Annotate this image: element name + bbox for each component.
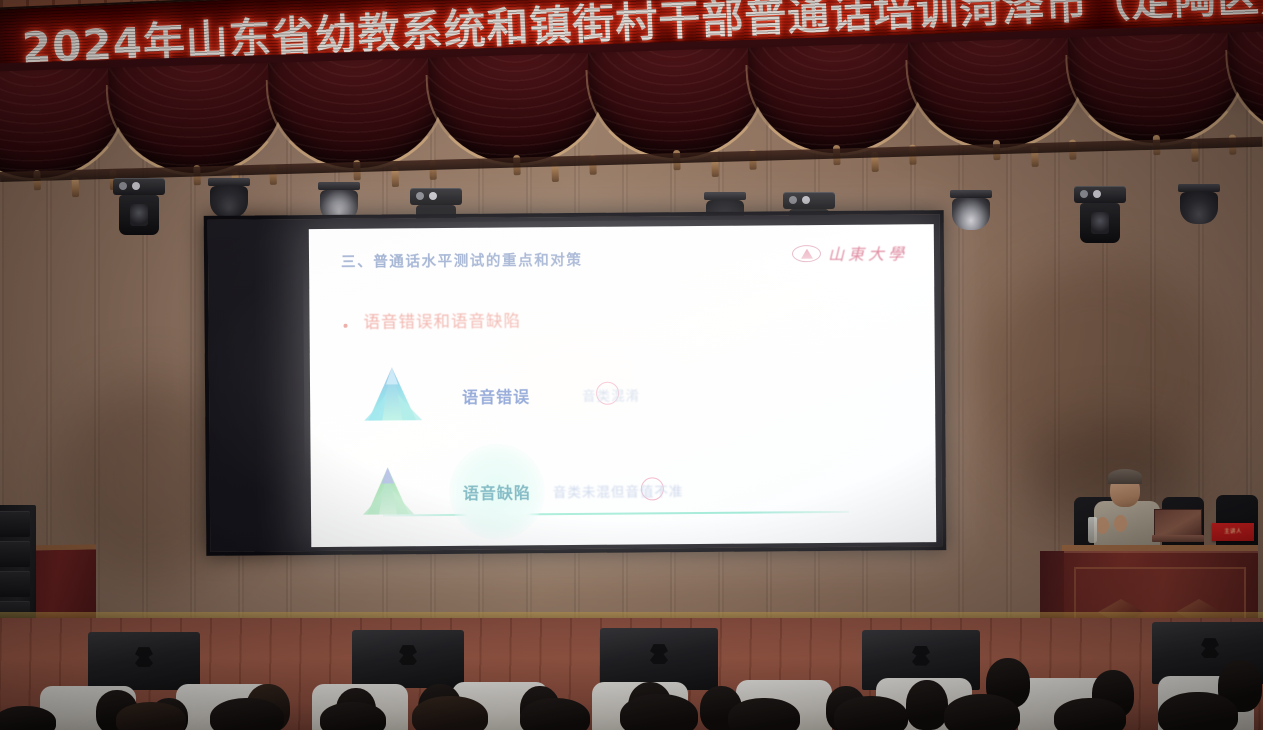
- audience-head: [944, 694, 1020, 730]
- audience-head: [210, 698, 284, 730]
- par-can-light: [1178, 184, 1220, 224]
- university-logo: 山東大學: [792, 240, 908, 265]
- slide-row-phonetic-error: 语音错误 音类混淆: [356, 362, 641, 428]
- audience-head: [1158, 692, 1238, 730]
- audience-head: [1054, 698, 1126, 730]
- bullet-dot-icon: [344, 324, 348, 328]
- audience-head: [620, 694, 698, 730]
- name-card: 主讲人: [1212, 523, 1254, 541]
- moving-head-light: [1074, 186, 1126, 243]
- curtain-swag: [268, 57, 447, 170]
- speaker-hand: [1114, 515, 1127, 532]
- curtain-swag: [748, 42, 927, 155]
- slide-row-phonetic-defect: 语音缺陷 音类未混但音值不准: [356, 442, 683, 541]
- slide-row-label: 语音缺陷: [463, 479, 531, 504]
- slide-row-description: 音类混淆: [582, 384, 640, 404]
- curtain-swag: [108, 62, 287, 175]
- audience-head: [728, 698, 800, 730]
- audience-head: [412, 696, 488, 730]
- speaker-hair: [1108, 469, 1142, 484]
- audience-head: [116, 702, 186, 730]
- laptop-screen: [1154, 509, 1202, 537]
- curtain-swag: [1228, 27, 1263, 140]
- speaker-hand: [1096, 517, 1109, 534]
- water-bottle: [1088, 517, 1097, 543]
- audience-area: [0, 640, 1263, 730]
- slide-row-description: 音类未混但音值不准: [553, 480, 684, 501]
- curtain-swag: [1068, 32, 1247, 145]
- audience-head: [520, 698, 590, 730]
- presentation-slide: 三、普通话水平测试的重点和对策 山東大學 语音错误和语音缺陷: [309, 224, 936, 547]
- laptop-base: [1152, 535, 1204, 542]
- mountain-icon-green: [357, 464, 419, 520]
- slide-row-label: 语音错误: [462, 383, 530, 408]
- slide-bullet: 语音错误和语音缺陷: [343, 307, 521, 332]
- audience-head: [320, 702, 386, 730]
- curtain-swag: [588, 47, 767, 160]
- audience-head: [834, 696, 908, 730]
- par-can-light: [950, 190, 992, 230]
- university-logo-text: 山東大學: [828, 240, 908, 265]
- mountain-icon-blue: [356, 364, 429, 429]
- name-card-text: 主讲人: [1212, 523, 1254, 541]
- curtain-swag: [908, 37, 1087, 150]
- university-emblem-icon: [792, 245, 821, 262]
- projection-screen: 三、普通话水平测试的重点和对策 山東大學 语音错误和语音缺陷: [204, 210, 947, 556]
- slide-bullet-text: 语音错误和语音缺陷: [363, 307, 521, 332]
- par-can-light: [208, 178, 250, 218]
- slide-title: 三、普通话水平测试的重点和对策: [341, 249, 583, 272]
- audience-head: [906, 680, 948, 730]
- auditorium-scene: 2024年山东省幼教系统和镇街村干部普通话培训菏泽市（定陶区）班: [0, 0, 1263, 730]
- curtain-swag: [428, 52, 607, 165]
- moving-head-light: [113, 178, 165, 235]
